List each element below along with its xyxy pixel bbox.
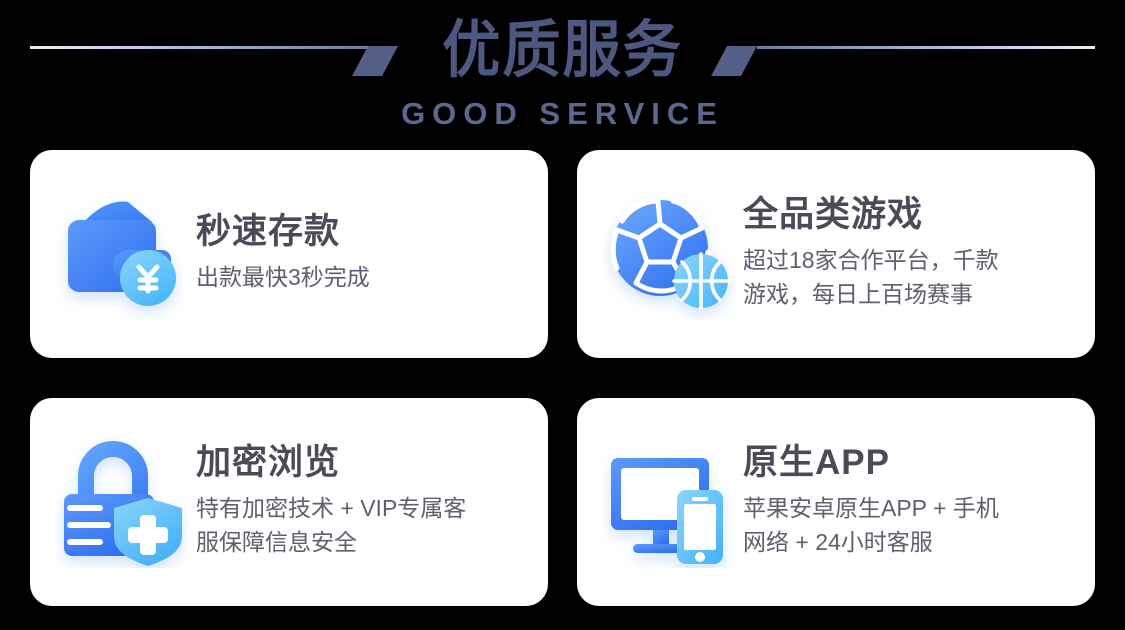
soccer-basketball-icon-svg [603,188,735,320]
service-card-native-app[interactable]: 原生APP 苹果安卓原生APP + 手机 网络 + 24小时客服 [577,398,1095,606]
page-subtitle: GOOD SERVICE [0,96,1125,132]
service-card-deposit[interactable]: 秒速存款 出款最快3秒完成 [30,150,548,358]
card-title: 秒速存款 [196,210,370,254]
card-text-block: 秒速存款 出款最快3秒完成 [196,210,370,298]
service-card-grid: 秒速存款 出款最快3秒完成 [30,150,1095,606]
card-title: 全品类游戏 [743,193,999,237]
card-description-line: 超过18家合作平台，千款 [743,243,999,277]
service-card-games[interactable]: 全品类游戏 超过18家合作平台，千款 游戏，每日上百场赛事 [577,150,1095,358]
lock-shield-icon [56,436,188,568]
wallet-yen-icon-svg [56,188,188,320]
card-description: 苹果安卓原生APP + 手机 网络 + 24小时客服 [743,491,999,559]
card-title: 加密浏览 [196,441,466,485]
card-text-block: 全品类游戏 超过18家合作平台，千款 游戏，每日上百场赛事 [743,193,999,315]
card-description-line: 特有加密技术 + VIP专属客 [196,491,466,525]
monitor-phone-icon-svg [603,436,735,568]
page-title: 优质服务 [34,12,1092,90]
wallet-yen-icon [56,188,188,320]
card-description-line: 网络 + 24小时客服 [743,525,999,559]
card-description: 超过18家合作平台，千款 游戏，每日上百场赛事 [743,243,999,311]
card-description-line: 苹果安卓原生APP + 手机 [743,491,999,525]
card-description: 出款最快3秒完成 [196,260,370,294]
card-description-line: 服保障信息安全 [196,525,466,559]
lock-shield-icon-svg [56,436,188,568]
card-description: 特有加密技术 + VIP专属客 服保障信息安全 [196,491,466,559]
card-text-block: 原生APP 苹果安卓原生APP + 手机 网络 + 24小时客服 [743,441,999,563]
service-card-encryption[interactable]: 加密浏览 特有加密技术 + VIP专属客 服保障信息安全 [30,398,548,606]
card-title: 原生APP [743,441,999,485]
card-description-line: 出款最快3秒完成 [196,260,370,294]
card-text-block: 加密浏览 特有加密技术 + VIP专属客 服保障信息安全 [196,441,466,563]
soccer-basketball-icon [603,188,735,320]
card-description-line: 游戏，每日上百场赛事 [743,277,999,311]
monitor-phone-icon [603,436,735,568]
page-header: 优质服务 GOOD SERVICE [0,0,1125,142]
